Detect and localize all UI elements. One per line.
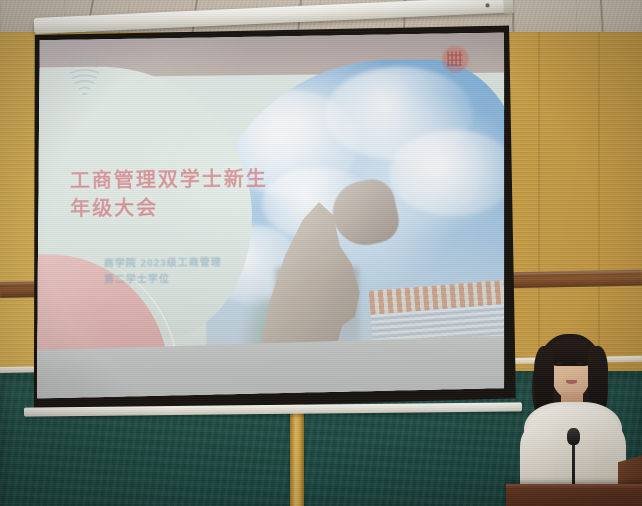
university-round-seal-icon: [441, 44, 469, 72]
projection-screen[interactable]: 工商管理双学士新生 年级大会 商学院 2023级工商管理 第二学士学位: [24, 25, 516, 412]
roller-screw-dot: [485, 3, 489, 7]
slide-title-block: 工商管理双学士新生 年级大会: [70, 163, 457, 224]
roller-end-cap: [503, 0, 514, 14]
university-emblem-watermark-icon: [59, 50, 112, 103]
speaker-eye-left: [556, 362, 563, 365]
screen-surface: 工商管理双学士新生 年级大会 商学院 2023级工商管理 第二学士学位: [33, 33, 508, 399]
speaker-eye-right: [576, 362, 583, 365]
presentation-slide: 工商管理双学士新生 年级大会 商学院 2023级工商管理 第二学士学位: [33, 33, 508, 399]
microphone-head-icon: [567, 428, 580, 445]
slide-title-line-1: 工商管理双学士新生: [70, 163, 456, 195]
slide-title-line-2: 年级大会: [70, 191, 456, 223]
speaker-figure: [506, 332, 642, 506]
photo-scene: 工商管理双学士新生 年级大会 商学院 2023级工商管理 第二学士学位: [0, 0, 642, 506]
podium-top-edge: [506, 484, 642, 489]
speaker-mouth: [566, 380, 577, 384]
slide-subtitle-block: 商学院 2023级工商管理 第二学士学位: [104, 253, 462, 289]
